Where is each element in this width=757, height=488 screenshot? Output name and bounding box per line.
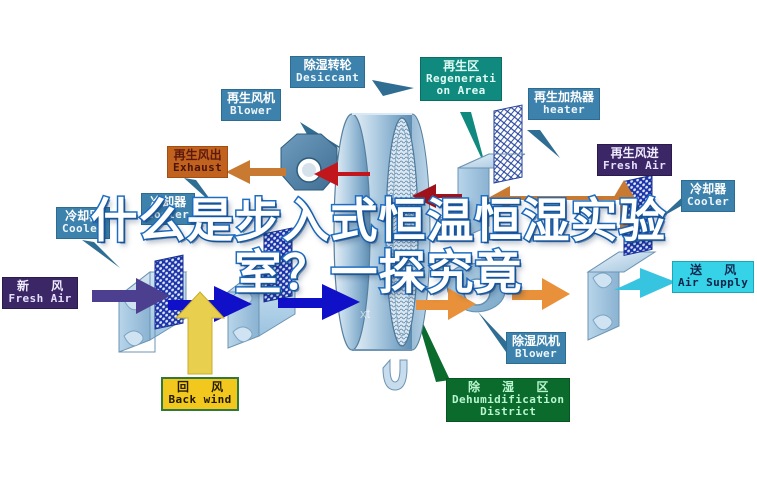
label-en: Back wind: [168, 394, 232, 406]
exhaust-arrow: [226, 160, 286, 184]
label-cn: 除湿风机: [512, 335, 560, 348]
label-regeneration-heater[interactable]: 再生加热器 heater: [528, 88, 600, 120]
label-en: Desiccant: [296, 72, 359, 84]
label-en: Blower: [227, 105, 275, 117]
label-cn: 除湿转轮: [296, 59, 359, 72]
svg-text:xt: xt: [360, 306, 371, 321]
label-en: Blower: [512, 348, 560, 360]
label-en: Fresh Air: [603, 160, 666, 172]
label-back-wind[interactable]: 回 风 Back wind: [161, 377, 239, 411]
label-cn: 再生区: [426, 60, 496, 73]
regeneration-fan: [281, 134, 337, 190]
label-dehumidification-district[interactable]: 除 湿 区 Dehumidification District: [446, 378, 570, 422]
label-regeneration-fresh-air-in[interactable]: 再生风进 Fresh Air: [597, 144, 672, 176]
diagram-canvas: xt: [0, 0, 757, 488]
label-en-line2: District: [452, 406, 564, 418]
label-cn: 回 风: [168, 381, 232, 394]
label-en: Exhaust: [173, 162, 222, 174]
label-cn: 除 湿 区: [452, 381, 564, 394]
label-en: heater: [534, 104, 594, 116]
label-en-line2: on Area: [426, 85, 496, 97]
label-cn: 再生风出: [173, 149, 222, 162]
drain-pan: [383, 360, 407, 390]
label-desiccant-wheel[interactable]: 除湿转轮 Desiccant: [290, 56, 365, 88]
label-cn: 再生风进: [603, 147, 666, 160]
label-cn: 冷却器: [687, 183, 729, 196]
label-exhaust[interactable]: 再生风出 Exhaust: [167, 146, 228, 178]
label-regeneration-area[interactable]: 再生区 Regenerati on Area: [420, 57, 502, 101]
page-title-line2: 室？一探究竟: [0, 248, 757, 300]
label-cn: 再生加热器: [534, 91, 594, 104]
page-title: 什么是步入式恒温恒湿实验 室？一探究竟: [0, 196, 757, 300]
label-regeneration-blower[interactable]: 再生风机 Blower: [221, 89, 281, 121]
label-dehumidification-blower[interactable]: 除湿风机 Blower: [506, 332, 566, 364]
page-title-line1: 什么是步入式恒温恒湿实验: [91, 194, 667, 249]
label-cn: 再生风机: [227, 92, 275, 105]
